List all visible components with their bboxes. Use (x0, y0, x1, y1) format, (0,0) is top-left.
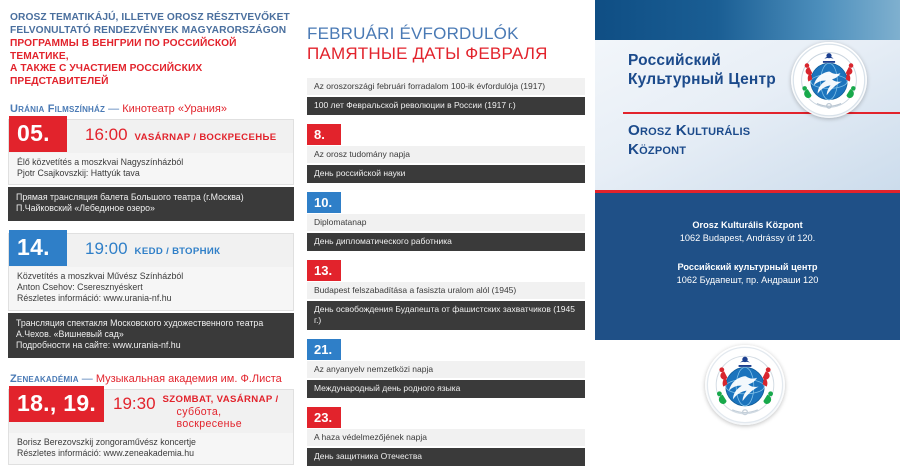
event-ru-line3: Подробности на сайте: www.urania-nf.hu (16, 340, 286, 351)
intro-ru-line2: А ТАКЖЕ С УЧАСТИЕМ РОССИЙСКИХ ПРЕДСТАВИТ… (10, 63, 294, 88)
anniversary-item[interactable]: 10. Diplomatanap День дипломатического р… (307, 192, 585, 251)
event-description-ru: Трансляция спектакля Московского художес… (8, 313, 294, 358)
anniversary-hu: Az orosz tudomány napja (307, 146, 585, 163)
event-hu-line1: Közvetítés a moszkvai Művész Színházból (17, 271, 285, 282)
event-weekday: KEDD / ВТОРНИК (135, 246, 221, 258)
event-description-hu: Borisz Berezovszkij zongoraművész koncer… (8, 433, 294, 466)
anniversary-item[interactable]: 13. Budapest felszabadítása a fasiszta u… (307, 260, 585, 330)
anniversary-ru: День освобождения Будапешта от фашистски… (307, 301, 585, 330)
anniversary-item[interactable]: 8. Az orosz tudomány napja День российск… (307, 124, 585, 183)
event-weekday: VASÁRNAP / ВОСКРЕСЕНЬЕ (135, 132, 277, 144)
anniversaries-column: FEBRUÁRI ÉVFORDULÓK ПАМЯТНЫЕ ДАТЫ ФЕВРАЛ… (307, 0, 585, 450)
event-time-row: 19:30 SZOMBAT, VASÁRNAP / суббота, воскр… (113, 394, 289, 430)
event-day-number: 18., 19. (17, 392, 96, 415)
org-name-hu-line1: Orosz Kulturális (628, 122, 750, 141)
anniversary-item[interactable]: 23. A haza védelmezőjének napja День защ… (307, 407, 585, 466)
anniversaries-list: Az oroszországi februári forradalom 100-… (307, 78, 585, 466)
event-weekday: SZOMBAT, VASÁRNAP / суббота, воскресенье (163, 394, 289, 430)
address-hu-name: Orosz Kulturális Központ (595, 219, 900, 232)
anniversary-item[interactable]: 21. Az anyanyelv nemzetközi napja Междун… (307, 339, 585, 398)
anniversary-ru: 100 лет Февральской революции в России (… (307, 97, 585, 115)
event-time-row: 19:00 KEDD / ВТОРНИК (85, 239, 289, 258)
anniversaries-title-ru: ПАМЯТНЫЕ ДАТЫ ФЕВРАЛЯ (307, 44, 585, 64)
intro-block: OROSZ TEMATIKÁJÚ, ILLETVE OROSZ RÉSZTVEV… (8, 0, 294, 89)
event-header: 18., 19. 19:30 SZOMBAT, VASÁRNAP / суббо… (8, 389, 294, 433)
event-day-number: 05. (17, 122, 50, 145)
anniversary-day-badge: 8. (307, 124, 341, 145)
event-ru-line2: П.Чайковский «Лебединое озеро» (16, 203, 286, 214)
anniversary-ru: День дипломатического работника (307, 233, 585, 251)
address-ru-name: Российский культурный центр (595, 261, 900, 274)
events-column: OROSZ TEMATIKÁJÚ, ILLETVE OROSZ RÉSZTVEV… (8, 0, 294, 450)
anniversaries-title: FEBRUÁRI ÉVFORDULÓK ПАМЯТНЫЕ ДАТЫ ФЕВРАЛ… (307, 0, 585, 64)
event-time-row: 16:00 VASÁRNAP / ВОСКРЕСЕНЬЕ (85, 125, 289, 144)
venue-urania-hu: Uránia Filmszínház (10, 103, 105, 115)
event-day-badge: 05. (9, 116, 67, 152)
anniversary-hu: Diplomatanap (307, 214, 585, 231)
event-item[interactable]: 05. 16:00 VASÁRNAP / ВОСКРЕСЕНЬЕ Élő köz… (8, 119, 294, 221)
address-hungarian: Orosz Kulturális Központ 1062 Budapest, … (595, 219, 900, 244)
event-hu-line2: Anton Csehov: Cseresznyéskert (17, 282, 285, 293)
venue-urania-ru: Кинотеатр «Урания» (122, 103, 227, 115)
anniversary-day-badge: 23. (307, 407, 341, 428)
anniversary-hu: Az anyanyelv nemzetközi napja (307, 361, 585, 378)
venue-zeneakademia-ru: Музыкальная академия им. Ф.Листа (96, 373, 282, 385)
event-hu-line1: Élő közvetítés a moszkvai Nagyszínházból (17, 157, 285, 168)
event-weekday-line2: суббота, воскресенье (163, 406, 289, 430)
venue-urania-dash: — (105, 103, 122, 115)
org-name-ru-line2: Культурный Центр (628, 71, 776, 90)
event-day-badge: 14. (9, 230, 67, 266)
event-weekday-line1: SZOMBAT, VASÁRNAP / (163, 394, 289, 406)
logo-graphic (705, 345, 785, 425)
anniversary-ru: День российской науки (307, 165, 585, 183)
anniversary-hu: Budapest felszabadítása a fasiszta uralo… (307, 282, 585, 299)
organization-panel: Российский Культурный Центр Orosz Kultur… (595, 0, 900, 340)
venue-zeneakademia-dash: — (79, 373, 96, 385)
anniversary-item[interactable]: Az oroszországi februári forradalom 100-… (307, 78, 585, 115)
intro-hungarian: OROSZ TEMATIKÁJÚ, ILLETVE OROSZ RÉSZTVEV… (10, 12, 294, 37)
event-ru-line2: А.Чехов. «Вишневый сад» (16, 329, 286, 340)
venue-zeneakademia-hu: Zeneakadémia (10, 373, 79, 385)
venue-urania: Uránia Filmszínház — Кинотеатр «Урания» (10, 103, 294, 116)
intro-hu-line1: OROSZ TEMATIKÁJÚ, ILLETVE OROSZ RÉSZTVEV… (10, 12, 294, 25)
russian-cultural-center-logo-icon (791, 42, 867, 118)
event-header: 05. 16:00 VASÁRNAP / ВОСКРЕСЕНЬЕ (8, 119, 294, 153)
org-name-hu-line2: Központ (628, 141, 750, 160)
address-russian: Российский культурный центр 1062 Будапеш… (595, 261, 900, 286)
logo-graphic (791, 42, 867, 118)
anniversary-hu: A haza védelmezőjének napja (307, 429, 585, 446)
event-day-badge: 18., 19. (9, 386, 104, 422)
anniversaries-title-hu: FEBRUÁRI ÉVFORDULÓK (307, 24, 585, 44)
anniversary-ru: День защитника Отечества (307, 448, 585, 466)
panel-name-block: Российский Культурный Центр Orosz Kultur… (595, 40, 900, 190)
event-time: 19:00 (85, 239, 128, 258)
event-ru-line1: Прямая трансляция балета Большого театра… (16, 192, 286, 203)
event-description-hu: Élő közvetítés a moszkvai Nagyszínházból… (8, 153, 294, 186)
anniversary-day-badge: 10. (307, 192, 341, 213)
org-name-ru-line1: Российский (628, 52, 776, 71)
intro-russian: ПРОГРАММЫ В ВЕНГРИИ ПО РОССИЙСКОЙ ТЕМАТИ… (10, 38, 294, 88)
event-day-number: 14. (17, 236, 50, 259)
address-hu-street: 1062 Budapest, Andrássy út 120. (595, 232, 900, 245)
event-time: 19:30 (113, 394, 156, 413)
intro-ru-line1: ПРОГРАММЫ В ВЕНГРИИ ПО РОССИЙСКОЙ ТЕМАТИ… (10, 38, 294, 63)
org-name-hungarian: Orosz Kulturális Központ (628, 122, 750, 159)
event-description-ru: Прямая трансляция балета Большого театра… (8, 187, 294, 221)
panel-address-block: Orosz Kulturális Központ 1062 Budapest, … (595, 193, 900, 340)
venue-zeneakademia: Zeneakadémia — Музыкальная академия им. … (10, 373, 294, 386)
address-ru-street: 1062 Будапешт, пр. Андраши 120 (595, 274, 900, 287)
event-hu-line3: Részletes információ: www.urania-nf.hu (17, 293, 285, 304)
event-header: 14. 19:00 KEDD / ВТОРНИК (8, 233, 294, 267)
event-item[interactable]: 14. 19:00 KEDD / ВТОРНИК Közvetítés a mo… (8, 233, 294, 358)
event-ru-line1: Трансляция спектакля Московского художес… (16, 318, 286, 329)
intro-hu-line2: FELVONULTATÓ RENDEZVÉNYEK MAGYARORSZÁGON (10, 25, 294, 38)
russian-cultural-center-logo-icon (705, 345, 785, 425)
panel-top-gradient-bar (595, 0, 900, 40)
poster-page: OROSZ TEMATIKÁJÚ, ILLETVE OROSZ RÉSZTVEV… (0, 0, 900, 450)
event-item[interactable]: 18., 19. 19:30 SZOMBAT, VASÁRNAP / суббо… (8, 389, 294, 466)
event-hu-line2: Pjotr Csajkovszkij: Hattyúk tava (17, 168, 285, 179)
event-hu-line1: Borisz Berezovszkij zongoraművész koncer… (17, 437, 285, 448)
anniversary-ru: Международный день родного языка (307, 380, 585, 398)
org-name-russian: Российский Культурный Центр (628, 52, 776, 89)
anniversary-hu: Az oroszországi februári forradalom 100-… (307, 78, 585, 95)
event-time: 16:00 (85, 125, 128, 144)
event-description-hu: Közvetítés a moszkvai Művész Színházból … (8, 267, 294, 311)
anniversary-day-badge: 13. (307, 260, 341, 281)
anniversary-day-badge: 21. (307, 339, 341, 360)
